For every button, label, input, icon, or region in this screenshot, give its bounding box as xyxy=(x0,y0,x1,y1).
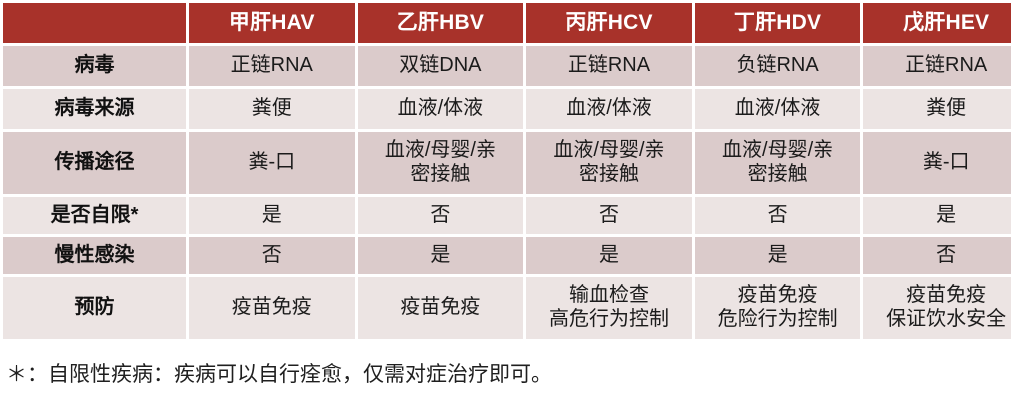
row-label-source: 病毒来源 xyxy=(3,89,186,129)
table-row: 是否自限* 是 否 否 否 是 xyxy=(3,197,1011,234)
table-corner-cell xyxy=(3,3,186,43)
cell-selflimit-hdv: 否 xyxy=(695,197,861,234)
cell-line: 否 xyxy=(867,244,1011,268)
cell-chronic-hcv: 是 xyxy=(526,237,692,274)
hepatitis-comparison-table: 甲肝HAV 乙肝HBV 丙肝HCV 丁肝HDV 戊肝HEV 病毒 正链RNA 双… xyxy=(0,0,1011,342)
cell-line: 是 xyxy=(530,244,688,268)
cell-route-hbv: 血液/母婴/亲密接触 xyxy=(358,132,524,194)
cell-prevention-hbv: 疫苗免疫 xyxy=(358,277,524,339)
cell-line: 输血检查 xyxy=(530,284,688,308)
cell-route-hcv: 血液/母婴/亲密接触 xyxy=(526,132,692,194)
cell-line: 是 xyxy=(362,244,520,268)
column-header-hbv: 乙肝HBV xyxy=(358,3,524,43)
cell-line: 疫苗免疫 xyxy=(699,284,857,308)
cell-chronic-hdv: 是 xyxy=(695,237,861,274)
cell-line: 正链RNA xyxy=(867,54,1011,78)
cell-prevention-hev: 疫苗免疫保证饮水安全 xyxy=(863,277,1011,339)
cell-prevention-hdv: 疫苗免疫危险行为控制 xyxy=(695,277,861,339)
cell-virus-hcv: 正链RNA xyxy=(526,46,692,86)
cell-selflimit-hcv: 否 xyxy=(526,197,692,234)
cell-line: 负链RNA xyxy=(699,54,857,78)
table-row: 预防 疫苗免疫 疫苗免疫 输血检查高危行为控制 疫苗免疫危险行为控制 疫苗免疫保… xyxy=(3,277,1011,339)
cell-line: 疫苗免疫 xyxy=(193,296,351,320)
cell-line: 粪-口 xyxy=(867,151,1011,175)
cell-line: 正链RNA xyxy=(193,54,351,78)
cell-line: 是 xyxy=(193,204,351,228)
table-row: 病毒 正链RNA 双链DNA 正链RNA 负链RNA 正链RNA xyxy=(3,46,1011,86)
cell-line: 疫苗免疫 xyxy=(867,284,1011,308)
row-label-route: 传播途径 xyxy=(3,132,186,194)
cell-selflimit-hev: 是 xyxy=(863,197,1011,234)
table-row: 病毒来源 粪便 血液/体液 血液/体液 血液/体液 粪便 xyxy=(3,89,1011,129)
cell-source-hev: 粪便 xyxy=(863,89,1011,129)
cell-line: 高危行为控制 xyxy=(530,308,688,332)
cell-source-hbv: 血液/体液 xyxy=(358,89,524,129)
table-row: 慢性感染 否 是 是 是 否 xyxy=(3,237,1011,274)
cell-route-hdv: 血液/母婴/亲密接触 xyxy=(695,132,861,194)
cell-virus-hev: 正链RNA xyxy=(863,46,1011,86)
cell-line: 危险行为控制 xyxy=(699,308,857,332)
cell-line: 血液/母婴/亲 xyxy=(362,139,520,163)
cell-line: 否 xyxy=(699,204,857,228)
cell-line: 血液/体液 xyxy=(362,97,520,121)
column-header-hev: 戊肝HEV xyxy=(863,3,1011,43)
cell-source-hcv: 血液/体液 xyxy=(526,89,692,129)
cell-source-hav: 粪便 xyxy=(189,89,355,129)
cell-line: 否 xyxy=(362,204,520,228)
cell-virus-hdv: 负链RNA xyxy=(695,46,861,86)
hepatitis-comparison-page: 甲肝HAV 乙肝HBV 丙肝HCV 丁肝HDV 戊肝HEV 病毒 正链RNA 双… xyxy=(0,0,1011,403)
cell-line: 否 xyxy=(193,244,351,268)
cell-selflimit-hbv: 否 xyxy=(358,197,524,234)
row-label-chronic: 慢性感染 xyxy=(3,237,186,274)
cell-line: 密接触 xyxy=(530,163,688,187)
row-label-virus: 病毒 xyxy=(3,46,186,86)
cell-line: 双链DNA xyxy=(362,54,520,78)
cell-virus-hav: 正链RNA xyxy=(189,46,355,86)
cell-source-hdv: 血液/体液 xyxy=(695,89,861,129)
table-header-row: 甲肝HAV 乙肝HBV 丙肝HCV 丁肝HDV 戊肝HEV xyxy=(3,3,1011,43)
cell-chronic-hbv: 是 xyxy=(358,237,524,274)
cell-line: 密接触 xyxy=(699,163,857,187)
table-body: 病毒 正链RNA 双链DNA 正链RNA 负链RNA 正链RNA 病毒来源 粪便… xyxy=(3,46,1011,339)
cell-line: 是 xyxy=(699,244,857,268)
column-header-hcv: 丙肝HCV xyxy=(526,3,692,43)
table-header: 甲肝HAV 乙肝HBV 丙肝HCV 丁肝HDV 戊肝HEV xyxy=(3,3,1011,43)
cell-line: 血液/体液 xyxy=(699,97,857,121)
cell-line: 正链RNA xyxy=(530,54,688,78)
cell-line: 是 xyxy=(867,204,1011,228)
cell-route-hev: 粪-口 xyxy=(863,132,1011,194)
cell-line: 血液/体液 xyxy=(530,97,688,121)
cell-selflimit-hav: 是 xyxy=(189,197,355,234)
cell-line: 血液/母婴/亲 xyxy=(699,139,857,163)
column-header-hdv: 丁肝HDV xyxy=(695,3,861,43)
row-label-selflimit: 是否自限* xyxy=(3,197,186,234)
cell-line: 粪便 xyxy=(867,97,1011,121)
cell-prevention-hav: 疫苗免疫 xyxy=(189,277,355,339)
cell-virus-hbv: 双链DNA xyxy=(358,46,524,86)
cell-chronic-hav: 否 xyxy=(189,237,355,274)
table-footnote: ＊：自限性疾病：疾病可以自行痊愈，仅需对症治疗即可。 xyxy=(0,342,1011,388)
cell-chronic-hev: 否 xyxy=(863,237,1011,274)
column-header-hav: 甲肝HAV xyxy=(189,3,355,43)
table-row: 传播途径 粪-口 血液/母婴/亲密接触 血液/母婴/亲密接触 血液/母婴/亲密接… xyxy=(3,132,1011,194)
cell-line: 否 xyxy=(530,204,688,228)
cell-line: 保证饮水安全 xyxy=(867,308,1011,332)
cell-line: 粪便 xyxy=(193,97,351,121)
row-label-prevention: 预防 xyxy=(3,277,186,339)
cell-line: 粪-口 xyxy=(193,151,351,175)
cell-prevention-hcv: 输血检查高危行为控制 xyxy=(526,277,692,339)
cell-line: 疫苗免疫 xyxy=(362,296,520,320)
cell-line: 血液/母婴/亲 xyxy=(530,139,688,163)
cell-line: 密接触 xyxy=(362,163,520,187)
cell-route-hav: 粪-口 xyxy=(189,132,355,194)
